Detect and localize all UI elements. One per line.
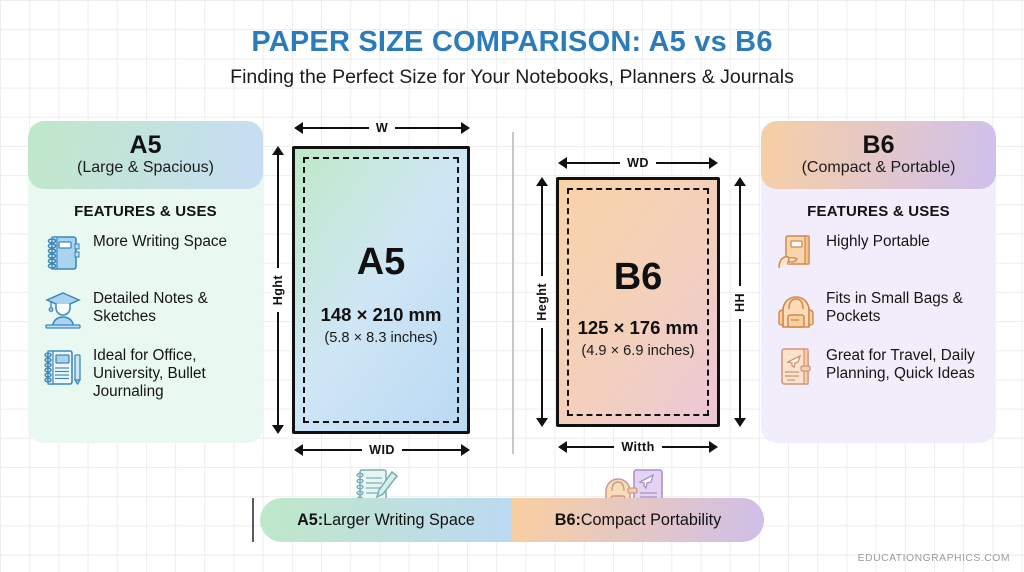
- notebook-pencil-icon: [40, 344, 86, 390]
- panel-b6-features-heading: FEATURES & USES: [761, 203, 996, 220]
- panel-a5-header-pill: A5 (Large & Spacious): [28, 121, 263, 189]
- panel-b6-tagline: (Compact & Portable): [802, 159, 956, 177]
- arrow-right-icon: [461, 122, 470, 134]
- b6-bottom-label: Witth: [614, 440, 661, 454]
- panel-a5-size-label: A5: [130, 132, 162, 158]
- a5-left-label: Hght: [271, 268, 285, 312]
- arrow-left-icon: [558, 157, 567, 169]
- list-item: Great for Travel, Daily Planning, Quick …: [773, 344, 986, 390]
- b6-height-dimension-right: HH: [732, 177, 748, 427]
- a5-name-text: A5: [295, 243, 467, 281]
- b6-name-text: B6: [559, 258, 717, 296]
- panel-a5: A5 (Large & Spacious) FEATURES & USES: [28, 121, 263, 443]
- b6-height-dimension-left: Heght: [534, 177, 550, 427]
- list-item-label: Ideal for Office, University, Bullet Jou…: [86, 344, 253, 401]
- summary-banner-a5: A5: Larger Writing Space: [260, 498, 512, 542]
- arrow-down-icon: [734, 418, 746, 427]
- arrow-down-icon: [272, 425, 284, 434]
- list-item-label: Fits in Small Bags & Pockets: [819, 287, 986, 326]
- center-divider: [512, 132, 514, 454]
- b6-mm-text: 125 × 176 mm: [559, 319, 717, 338]
- infographic-canvas: PAPER SIZE COMPARISON: A5 vs B6 Finding …: [0, 0, 1024, 572]
- b6-paper-rectangle: B6 125 × 176 mm (4.9 × 6.9 inches): [556, 177, 720, 427]
- summary-b6-prefix: B6:: [555, 511, 581, 530]
- b6-left-label: Heght: [535, 276, 549, 328]
- b6-right-label: HH: [733, 286, 747, 319]
- panel-b6-feature-list: Highly Portable Fits in Small Bags & Poc…: [761, 230, 996, 390]
- b6-width-dimension-top: WD: [558, 155, 718, 171]
- list-item-label: Highly Portable: [819, 230, 930, 251]
- arrow-left-icon: [294, 122, 303, 134]
- arrow-up-icon: [734, 177, 746, 186]
- summary-b6-text: Compact Portability: [581, 511, 721, 530]
- a5-top-label: W: [369, 121, 395, 135]
- b6-top-label: WD: [620, 156, 656, 170]
- spiral-notebook-icon: [40, 230, 86, 276]
- list-item: More Writing Space: [40, 230, 253, 276]
- header: PAPER SIZE COMPARISON: A5 vs B6 Finding …: [0, 26, 1024, 89]
- diagram-b6: WD Heght B6 125 × 176 mm (4.9 × 6.9 inch…: [528, 155, 756, 460]
- a5-width-dimension-bottom: WID: [294, 442, 470, 458]
- panel-b6: B6 (Compact & Portable) FEATURES & USES …: [761, 121, 996, 443]
- arrow-right-icon: [709, 157, 718, 169]
- page-title: PAPER SIZE COMPARISON: A5 vs B6: [0, 26, 1024, 59]
- a5-inches-text: (5.8 × 8.3 inches): [295, 331, 467, 346]
- panel-a5-features-heading: FEATURES & USES: [28, 203, 263, 220]
- travel-journal-icon: [773, 344, 819, 390]
- diagram-a5: W Hght A5 148 × 210 mm (5.8 × 8.3 inches…: [262, 120, 502, 460]
- arrow-left-icon: [558, 441, 567, 453]
- a5-paper-rectangle: A5 148 × 210 mm (5.8 × 8.3 inches): [292, 146, 470, 434]
- b6-width-dimension-bottom: Witth: [558, 439, 718, 455]
- arrow-up-icon: [536, 177, 548, 186]
- list-item-label: More Writing Space: [86, 230, 227, 251]
- summary-a5-text: Larger Writing Space: [323, 511, 475, 530]
- a5-bottom-label: WID: [362, 443, 402, 457]
- arrow-right-icon: [709, 441, 718, 453]
- page-subtitle: Finding the Perfect Size for Your Notebo…: [0, 66, 1024, 89]
- list-item: Detailed Notes & Sketches: [40, 287, 253, 333]
- a5-margin-guide: [303, 157, 459, 423]
- a5-mm-text: 148 × 210 mm: [295, 306, 467, 325]
- list-item: Fits in Small Bags & Pockets: [773, 287, 986, 333]
- list-item: Ideal for Office, University, Bullet Jou…: [40, 344, 253, 401]
- arrow-right-icon: [461, 444, 470, 456]
- a5-height-dimension-left: Hght: [270, 146, 286, 434]
- list-item-label: Great for Travel, Daily Planning, Quick …: [819, 344, 986, 383]
- panel-a5-tagline: (Large & Spacious): [77, 159, 214, 177]
- summary-a5-prefix: A5:: [297, 511, 323, 530]
- arrow-down-icon: [536, 418, 548, 427]
- panel-a5-feature-list: More Writing Space Detailed Notes & Sket…: [28, 230, 263, 401]
- arrow-left-icon: [294, 444, 303, 456]
- backpack-icon: [773, 287, 819, 333]
- panel-b6-size-label: B6: [863, 132, 895, 158]
- footer-watermark: EDUCATIONGRAPHICS.COM: [858, 553, 1010, 564]
- summary-banner-b6: B6: Compact Portability: [512, 498, 764, 542]
- b6-margin-guide: [567, 188, 709, 416]
- a5-width-dimension-top: W: [294, 120, 470, 136]
- panel-b6-header-pill: B6 (Compact & Portable): [761, 121, 996, 189]
- summary-banner: A5: Larger Writing Space B6: Compact Por…: [260, 498, 764, 542]
- list-item: Highly Portable: [773, 230, 986, 276]
- b6-inches-text: (4.9 × 6.9 inches): [559, 344, 717, 359]
- summary-banner-separator: [252, 498, 254, 542]
- hand-holding-notebook-icon: [773, 230, 819, 276]
- list-item-label: Detailed Notes & Sketches: [86, 287, 253, 326]
- graduate-student-icon: [40, 287, 86, 333]
- arrow-up-icon: [272, 146, 284, 155]
